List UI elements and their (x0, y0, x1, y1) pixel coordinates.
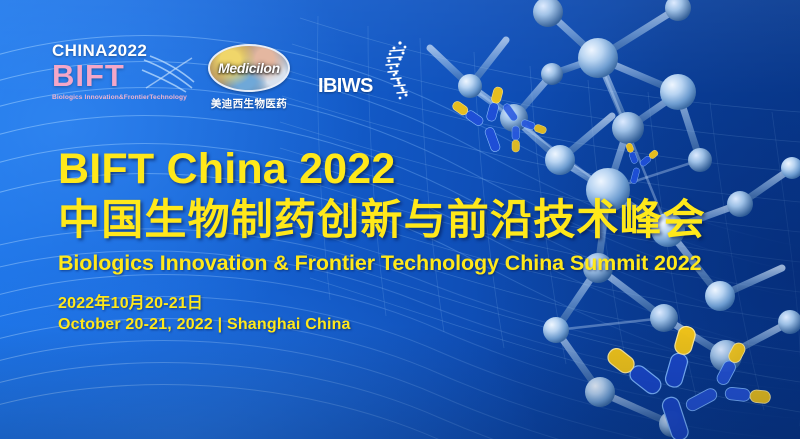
bift-logo-wordmark-text: BIFT (52, 58, 125, 93)
bift-logo[interactable]: CHINA2022 BIFT Biologics Innovation&Fron… (52, 42, 180, 101)
dna-helix-icon (370, 40, 410, 102)
event-date-block: 2022年10月20-21日 October 20-21, 2022 | Sha… (58, 293, 706, 336)
medicilon-logo[interactable]: Medicilon 美迪西生物医药 (206, 42, 292, 111)
page-subtitle-english: Biologics Innovation & Frontier Technolo… (58, 252, 706, 276)
medicilon-oval-mark: Medicilon (208, 44, 290, 92)
conference-banner: CHINA2022 BIFT Biologics Innovation&Fron… (0, 0, 800, 439)
sponsor-logo-bar: CHINA2022 BIFT Biologics Innovation&Fron… (52, 42, 414, 111)
bift-logo-wordmark: BIFT (52, 60, 180, 92)
ibiws-wordmark: IBIWS (318, 75, 373, 98)
page-title-english: BIFT China 2022 (58, 148, 706, 191)
page-title-chinese: 中国生物制药创新与前沿技术峰会 (58, 198, 706, 242)
medicilon-chinese-name: 美迪西生物医药 (206, 96, 292, 111)
event-date-english: October 20-21, 2022 | Shanghai China (58, 314, 706, 336)
medicilon-wordmark: Medicilon (210, 60, 288, 76)
headline-block: BIFT China 2022 中国生物制药创新与前沿技术峰会 Biologic… (58, 148, 706, 336)
event-date-chinese: 2022年10月20-21日 (58, 293, 706, 315)
ibiws-logo[interactable]: IBIWS (318, 42, 414, 104)
bift-logo-tagline: Biologics Innovation&FrontierTechnology (52, 95, 180, 102)
bift-swoosh-icon (140, 54, 196, 94)
